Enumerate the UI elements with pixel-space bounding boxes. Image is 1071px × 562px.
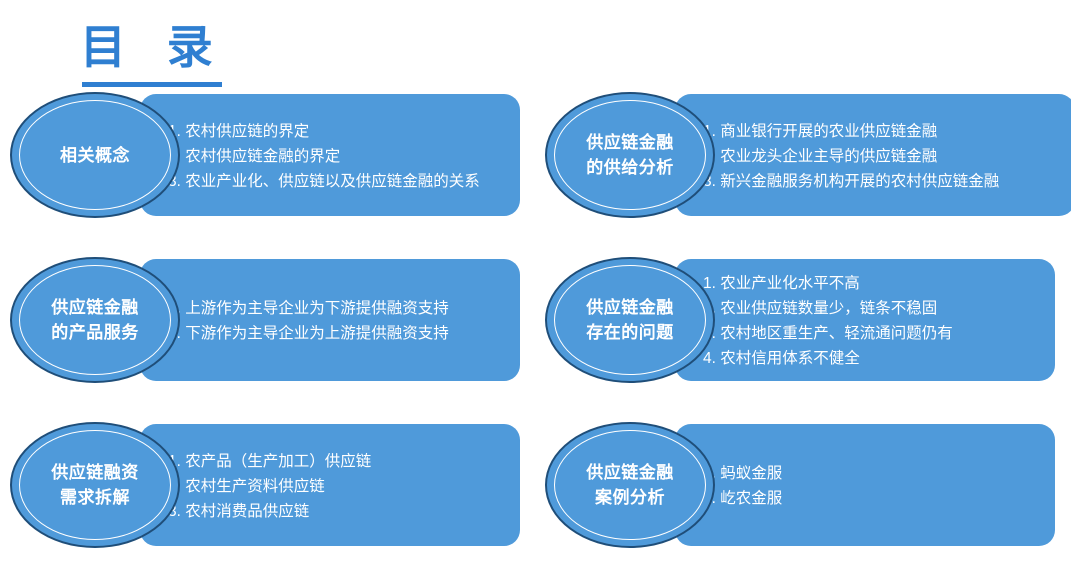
list-item: 1. 农业产业化水平不高: [703, 271, 1045, 296]
toc-entry-5[interactable]: 1. 农产品（生产加工）供应链 2. 农村生产资料供应链 3. 农村消费品供应链…: [10, 422, 520, 552]
list-item: 2. 农业供应链数量少，链条不稳固: [703, 296, 1045, 321]
list-item: 1. 农产品（生产加工）供应链: [168, 449, 510, 474]
toc-entry-2-panel: 1. 商业银行开展的农业供应链金融 2. 农业龙头企业主导的供应链金融 3. 新…: [675, 94, 1071, 216]
page-title: 目 录: [80, 18, 480, 80]
toc-entry-6-panel: 1. 蚂蚁金服 2. 屹农金服: [675, 424, 1055, 546]
toc-entry-5-label: 供应链融资 需求拆解: [30, 460, 160, 510]
list-item: 1. 商业银行开展的农业供应链金融: [703, 119, 1065, 144]
list-item: 3. 新兴金融服务机构开展的农村供应链金融: [703, 169, 1065, 194]
title-underline: [82, 82, 222, 87]
toc-entry-1-panel: 1. 农村供应链的界定 2. 农村供应链金融的界定 3. 农业产业化、供应链以及…: [140, 94, 520, 216]
toc-entry-6-label: 供应链金融 案例分析: [565, 460, 695, 510]
list-item: 3. 农村消费品供应链: [168, 499, 510, 524]
list-item: 2. 农村生产资料供应链: [168, 474, 510, 499]
list-item: 1. 农村供应链的界定: [168, 119, 510, 144]
toc-entry-3-label: 供应链金融 的产品服务: [30, 295, 160, 345]
toc-entry-2-badge[interactable]: 供应链金融 的供给分析: [545, 92, 715, 218]
list-item: 3. 农村地区重生产、轻流通问题仍有: [703, 321, 1045, 346]
page-title-text: 目 录: [80, 18, 480, 76]
list-item: 2. 下游作为主导企业为上游提供融资支持: [168, 321, 510, 346]
list-item: 4. 农村信用体系不健全: [703, 346, 1045, 371]
toc-entry-5-badge[interactable]: 供应链融资 需求拆解: [10, 422, 180, 548]
list-item: 1. 蚂蚁金服: [703, 461, 1045, 486]
toc-entry-4-panel: 1. 农业产业化水平不高 2. 农业供应链数量少，链条不稳固 3. 农村地区重生…: [675, 259, 1055, 381]
toc-entry-3-badge[interactable]: 供应链金融 的产品服务: [10, 257, 180, 383]
toc-entry-4-label: 供应链金融 存在的问题: [565, 295, 695, 345]
toc-grid: 1. 农村供应链的界定 2. 农村供应链金融的界定 3. 农业产业化、供应链以及…: [0, 92, 1071, 560]
list-item: 2. 农业龙头企业主导的供应链金融: [703, 144, 1065, 169]
toc-row: 1. 上游作为主导企业为下游提供融资支持 2. 下游作为主导企业为上游提供融资支…: [0, 257, 1071, 397]
toc-row: 1. 农村供应链的界定 2. 农村供应链金融的界定 3. 农业产业化、供应链以及…: [0, 92, 1071, 232]
list-item: 2. 农村供应链金融的界定: [168, 144, 510, 169]
toc-entry-4[interactable]: 1. 农业产业化水平不高 2. 农业供应链数量少，链条不稳固 3. 农村地区重生…: [545, 257, 1055, 387]
toc-entry-5-panel: 1. 农产品（生产加工）供应链 2. 农村生产资料供应链 3. 农村消费品供应链: [140, 424, 520, 546]
toc-entry-1[interactable]: 1. 农村供应链的界定 2. 农村供应链金融的界定 3. 农业产业化、供应链以及…: [10, 92, 520, 222]
toc-entry-1-badge[interactable]: 相关概念: [10, 92, 180, 218]
toc-row: 1. 农产品（生产加工）供应链 2. 农村生产资料供应链 3. 农村消费品供应链…: [0, 422, 1071, 562]
toc-entry-3-panel: 1. 上游作为主导企业为下游提供融资支持 2. 下游作为主导企业为上游提供融资支…: [140, 259, 520, 381]
list-item: 1. 上游作为主导企业为下游提供融资支持: [168, 296, 510, 321]
list-item: 3. 农业产业化、供应链以及供应链金融的关系: [168, 169, 510, 194]
toc-entry-2[interactable]: 1. 商业银行开展的农业供应链金融 2. 农业龙头企业主导的供应链金融 3. 新…: [545, 92, 1055, 222]
toc-entry-6-badge[interactable]: 供应链金融 案例分析: [545, 422, 715, 548]
toc-entry-1-label: 相关概念: [30, 143, 160, 168]
toc-entry-6[interactable]: 1. 蚂蚁金服 2. 屹农金服 供应链金融 案例分析: [545, 422, 1055, 552]
toc-entry-4-badge[interactable]: 供应链金融 存在的问题: [545, 257, 715, 383]
list-item: 2. 屹农金服: [703, 486, 1045, 511]
toc-entry-2-label: 供应链金融 的供给分析: [565, 130, 695, 180]
toc-entry-3[interactable]: 1. 上游作为主导企业为下游提供融资支持 2. 下游作为主导企业为上游提供融资支…: [10, 257, 520, 387]
